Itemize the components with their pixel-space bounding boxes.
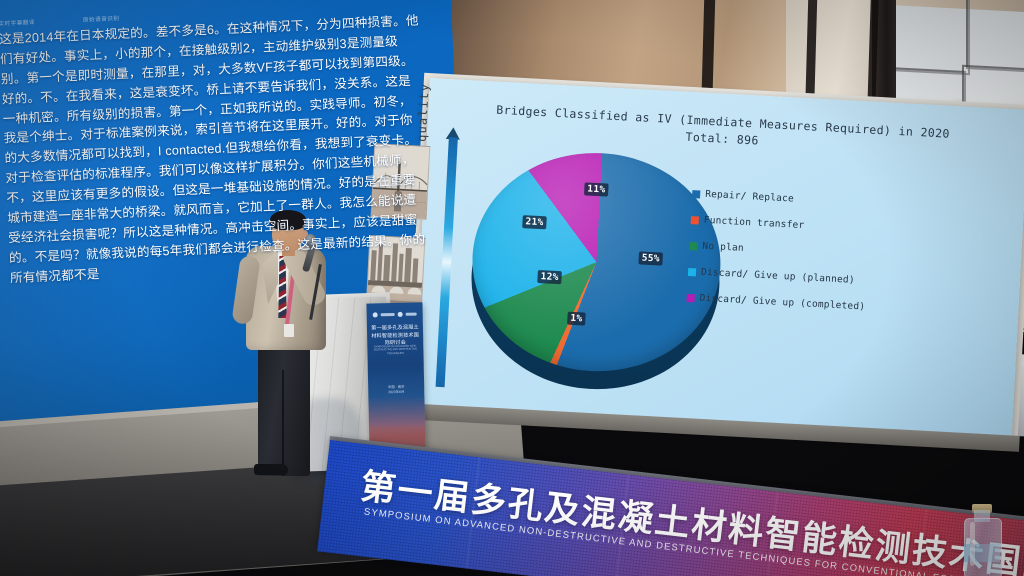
legend-item-no-plan: No plan — [689, 240, 879, 261]
pie-label-discard-completed: 11% — [584, 182, 609, 196]
university-logo-icon — [373, 312, 378, 317]
rollup-date: 2023年6月 — [372, 390, 420, 396]
caption-text: 这是2014年在日本规定的。差不多是6。在这种情况下，分为四种损害。他们有好处。… — [0, 11, 430, 288]
pie-label-no-plan: 12% — [537, 270, 562, 284]
legend-swatch-icon — [691, 216, 699, 224]
legend-label: No plan — [702, 241, 744, 254]
live-caption-overlay: 实时字幕翻译 原始语音识别 这是2014年在日本规定的。差不多是6。在这种情况下… — [0, 0, 439, 299]
bottle-highlight — [970, 522, 975, 566]
water-bottle — [962, 504, 1002, 576]
legend-label: Discard/ Give up (planned) — [701, 267, 855, 286]
rollup-logo — [373, 311, 417, 318]
legend-label: Discard/ Give up (completed) — [699, 293, 865, 313]
caption-header-right: 原始语音识别 — [83, 14, 120, 24]
sponsor-wordmark — [406, 312, 417, 315]
legend-swatch-icon — [686, 293, 694, 301]
sponsor-logo-icon — [398, 311, 403, 316]
legend-swatch-icon — [689, 242, 697, 250]
legend-item-repair-replace: Repair/ Replace — [692, 188, 882, 209]
legend-swatch-icon — [688, 268, 696, 276]
pie-label-repair-replace: 55% — [638, 251, 663, 265]
caption-header-left: 实时字幕翻译 — [0, 18, 35, 28]
speaker-trousers — [258, 330, 310, 476]
quality-gradient-bar — [436, 137, 458, 387]
rollup-subtitle: SYMPOSIUM ON ADVANCED NON-DESTRUCTIVE AN… — [371, 345, 419, 356]
logo-wordmark — [380, 313, 395, 316]
legend-item-function-transfer: Function transfer — [691, 214, 881, 235]
pie-label-discard-planned: 21% — [522, 215, 547, 229]
slide-surface: Bridges Classified as IV (Immediate Meas… — [412, 78, 1024, 439]
screenshot-root: Bridges Classified as IV (Immediate Meas… — [0, 0, 1024, 576]
speaker-badge — [284, 324, 294, 337]
projection-screen: Bridges Classified as IV (Immediate Meas… — [412, 78, 1024, 439]
podium-rollup-banner: 第一届多孔及混凝土材料智能检测技术国际研讨会 SYMPOSIUM ON ADVA… — [366, 302, 425, 453]
chart-legend: Repair/ Replace Function transfer No pla… — [686, 188, 883, 328]
legend-swatch-icon — [692, 190, 700, 198]
speaker-shoe — [254, 464, 288, 475]
legend-label: Repair/ Replace — [705, 189, 794, 205]
rollup-meta: 中国 · 南京 2023年6月 — [372, 384, 420, 396]
legend-label: Function transfer — [704, 215, 805, 231]
legend-item-discard-planned: Discard/ Give up (planned) — [688, 266, 878, 287]
pie-label-function-transfer: 1% — [567, 312, 586, 326]
legend-item-discard-completed: Discard/ Give up (completed) — [686, 292, 876, 313]
